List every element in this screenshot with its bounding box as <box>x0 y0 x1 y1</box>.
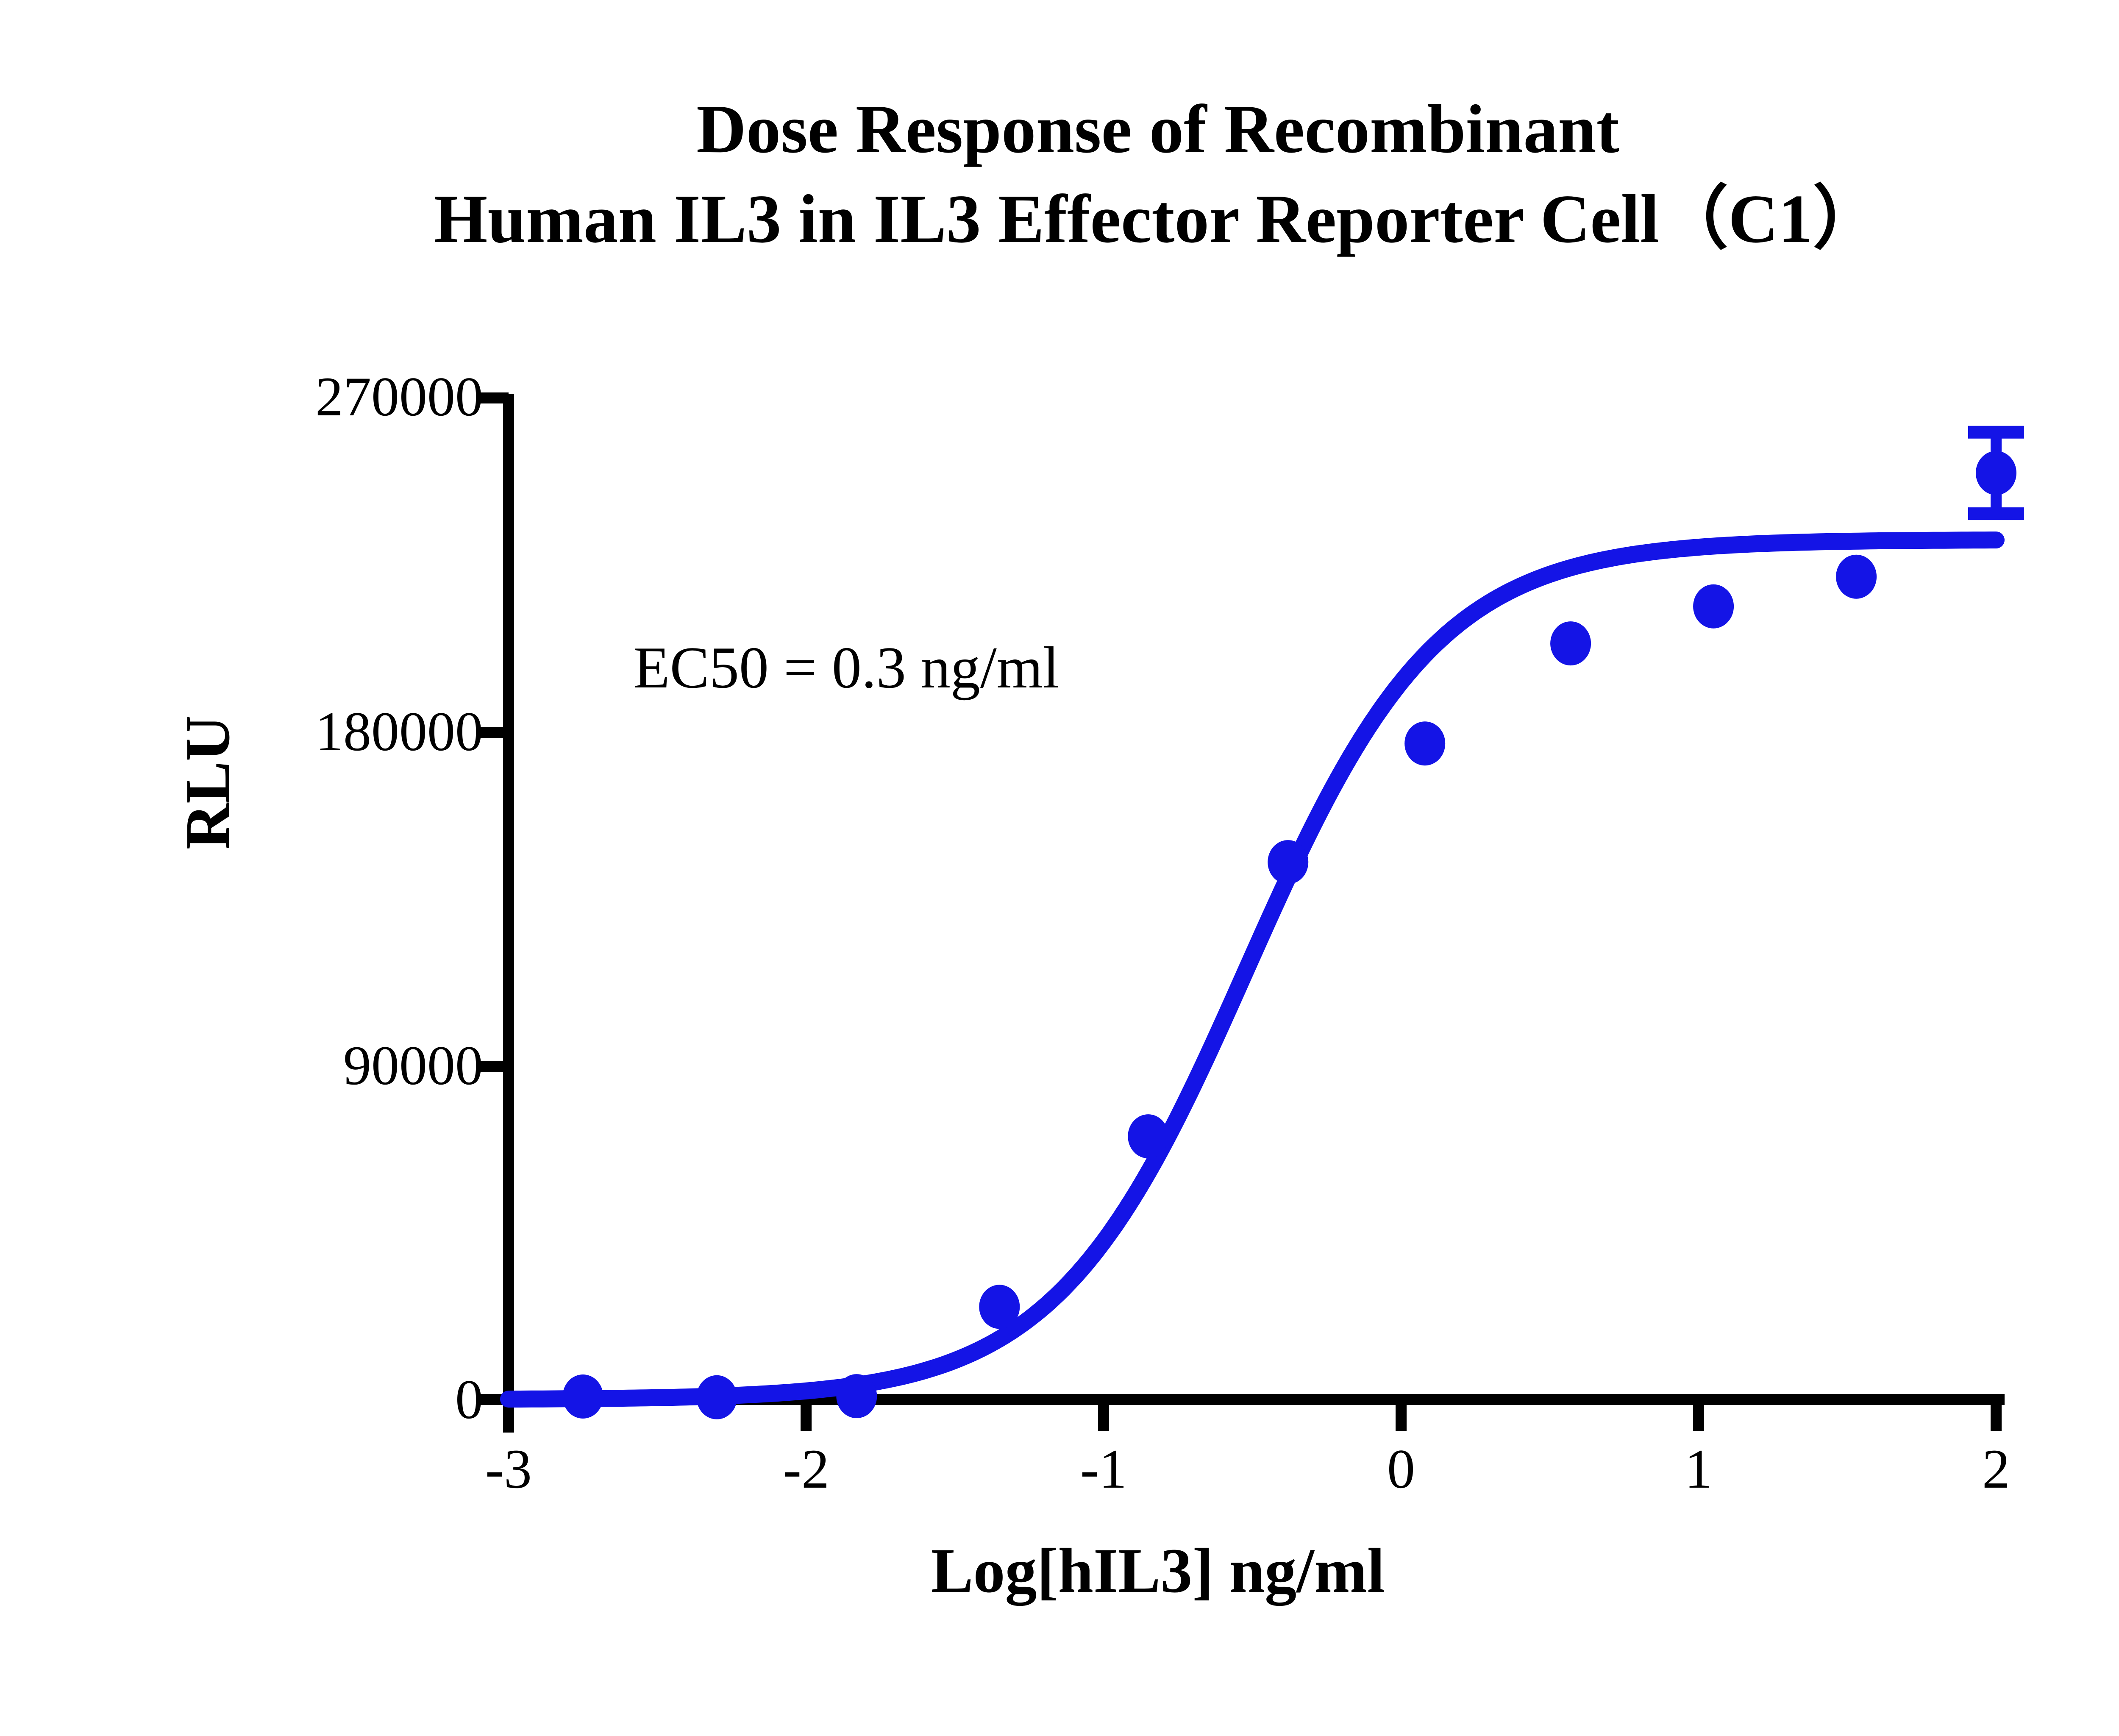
data-point-markers <box>563 451 2017 1419</box>
data-point <box>1268 840 1308 884</box>
data-point <box>1693 584 1734 629</box>
data-point <box>979 1285 1020 1329</box>
data-point <box>836 1374 877 1418</box>
data-point <box>563 1374 603 1419</box>
data-point <box>1836 555 1877 599</box>
data-point <box>1404 721 1445 765</box>
plot-area <box>0 0 2119 1736</box>
data-point <box>1128 1114 1168 1158</box>
data-point <box>1550 621 1591 665</box>
dose-response-fit-curve <box>509 540 1996 1399</box>
chart-figure: Dose Response of RecombinantHuman IL3 in… <box>0 0 2119 1736</box>
data-point <box>1976 451 2016 495</box>
data-point <box>696 1375 737 1419</box>
